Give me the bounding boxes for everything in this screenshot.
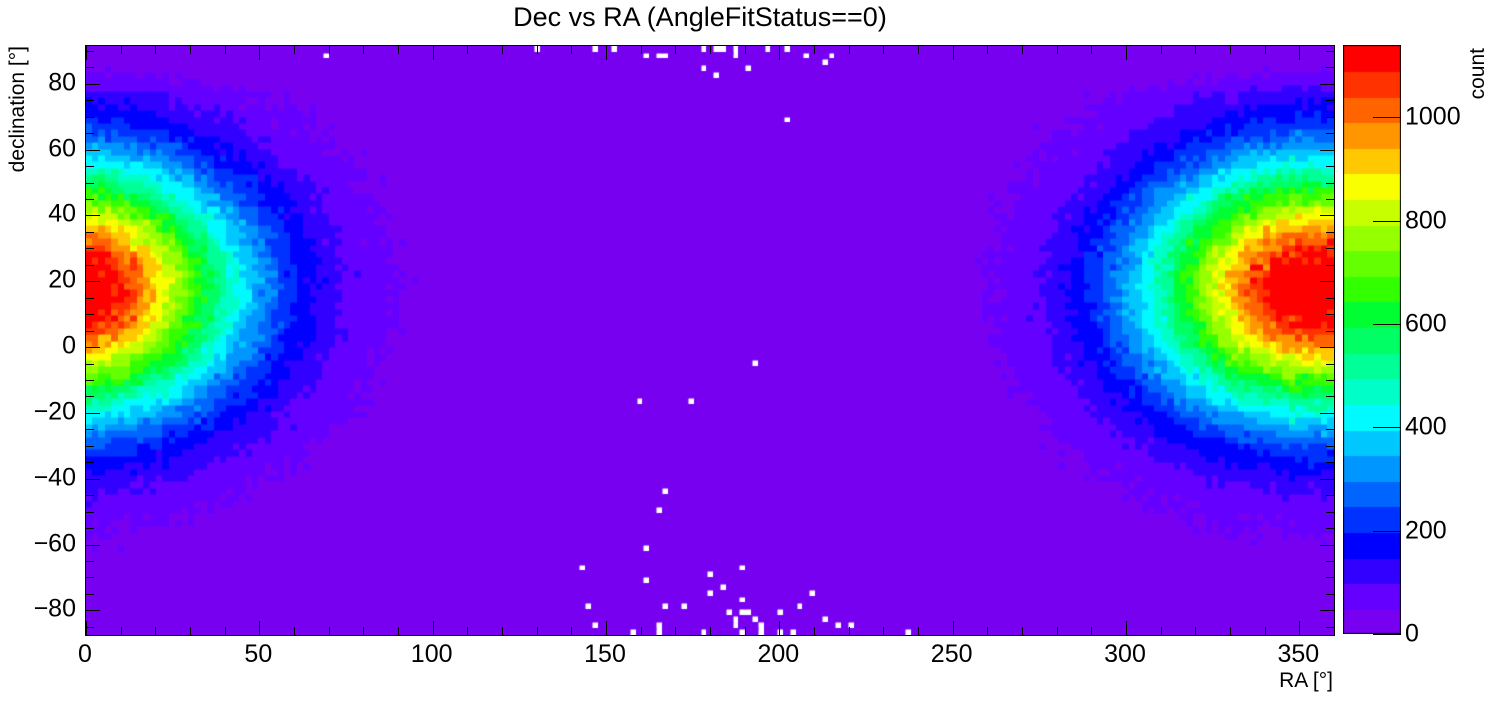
colorbar-tick-mark [1373,221,1401,222]
y-tick-mark [86,331,94,332]
y-tick-mark [86,215,100,216]
y-tick-mark [86,627,94,628]
colorbar-tick-mark [1373,531,1401,532]
y-tick-mark [86,150,100,151]
y-tick-mark [86,265,94,266]
y-tick-mark [1320,215,1334,216]
y-tick-mark [86,528,94,529]
y-tick-mark [86,610,100,611]
y-tick-mark [86,380,94,381]
x-tick-mark [710,627,711,635]
x-tick-mark [1161,46,1162,54]
colorbar-tick-mark [1373,634,1401,635]
x-tick-mark [745,627,746,635]
x-tick-mark [433,46,434,60]
x-tick-label: 0 [78,640,92,669]
y-tick-mark [86,67,94,68]
x-tick-mark [294,46,295,54]
x-tick-mark [953,46,954,60]
colorbar-tick-label: 1000 [1405,103,1461,132]
x-tick-mark [571,46,572,54]
y-tick-mark [1326,199,1334,200]
y-tick-mark [1326,331,1334,332]
y-tick-mark [1326,380,1334,381]
y-tick-mark [86,281,100,282]
colorbar-tick-mark [1373,117,1401,118]
y-tick-mark [1320,150,1334,151]
y-tick-mark [1326,117,1334,118]
y-tick-mark [86,545,100,546]
y-tick-mark [86,479,100,480]
x-tick-mark [1022,46,1023,54]
x-tick-mark [1057,46,1058,54]
y-tick-mark [86,133,94,134]
y-tick-mark [1326,248,1334,249]
x-tick-mark [1334,46,1335,54]
x-tick-mark [814,46,815,54]
y-tick-label: −40 [20,463,76,492]
x-tick-mark [849,46,850,54]
x-tick-mark [1265,627,1266,635]
y-tick-mark [86,100,94,101]
x-tick-mark [259,621,260,635]
y-tick-label: 0 [20,332,76,361]
y-tick-mark [1326,429,1334,430]
x-axis-title: RA [°] [1279,669,1333,693]
x-tick-mark [1195,46,1196,54]
x-tick-mark [1195,627,1196,635]
colorbar-tick-label: 600 [1405,310,1447,339]
y-tick-mark [1326,166,1334,167]
x-tick-mark [953,621,954,635]
colorbar-tick-mark [1373,324,1401,325]
x-tick-mark [1161,627,1162,635]
histogram-canvas [86,46,1334,635]
x-tick-mark [155,627,156,635]
y-tick-label: −60 [20,529,76,558]
colorbar [1343,45,1401,634]
y-tick-mark [1320,281,1334,282]
y-tick-mark [86,347,100,348]
y-tick-label: 20 [20,266,76,295]
x-tick-mark [1299,621,1300,635]
x-tick-label: 150 [584,640,626,669]
x-tick-mark [121,627,122,635]
x-tick-mark [918,46,919,54]
x-tick-mark [190,46,191,54]
y-tick-mark [86,446,94,447]
x-tick-mark [1126,621,1127,635]
y-tick-mark [86,298,94,299]
y-tick-mark [1326,495,1334,496]
x-tick-mark [86,621,87,635]
y-tick-mark [1326,51,1334,52]
x-tick-mark [398,627,399,635]
y-tick-label: −20 [20,397,76,426]
x-tick-mark [987,46,988,54]
x-tick-mark [1126,46,1127,60]
y-tick-mark [86,413,100,414]
y-tick-mark [1320,413,1334,414]
x-tick-mark [1299,46,1300,60]
y-tick-mark [1326,627,1334,628]
y-tick-mark [1326,396,1334,397]
x-tick-mark [86,46,87,60]
y-tick-mark [86,248,94,249]
x-tick-mark [225,627,226,635]
plot-frame [85,45,1335,636]
y-tick-mark [1326,594,1334,595]
x-tick-label: 250 [931,640,973,669]
y-tick-mark [1326,364,1334,365]
y-tick-mark [86,166,94,167]
y-tick-mark [86,429,94,430]
y-tick-mark [86,512,94,513]
x-tick-label: 200 [757,640,799,669]
x-tick-mark [849,627,850,635]
x-tick-mark [987,627,988,635]
x-tick-mark [606,621,607,635]
y-tick-mark [1326,512,1334,513]
y-tick-mark [1326,528,1334,529]
y-tick-mark [1326,232,1334,233]
x-tick-mark [571,627,572,635]
colorbar-gradient [1343,45,1401,634]
x-tick-mark [225,46,226,54]
x-tick-mark [329,46,330,54]
x-tick-mark [675,627,676,635]
y-tick-mark [1320,545,1334,546]
x-tick-mark [329,627,330,635]
x-tick-mark [363,627,364,635]
y-tick-mark [86,364,94,365]
y-tick-mark [86,396,94,397]
y-tick-label: 40 [20,200,76,229]
x-tick-mark [1091,46,1092,54]
x-tick-mark [883,627,884,635]
page-title: Dec vs RA (AngleFitStatus==0) [0,2,1400,33]
y-tick-mark [86,594,94,595]
colorbar-tick-label: 400 [1405,413,1447,442]
x-tick-mark [745,46,746,54]
x-tick-label: 300 [1104,640,1146,669]
chart-root: Dec vs RA (AngleFitStatus==0) 0501001502… [0,0,1496,722]
y-axis-title: declination [°] [6,46,30,172]
y-tick-mark [86,183,94,184]
x-tick-mark [121,46,122,54]
y-tick-mark [1320,610,1334,611]
x-tick-mark [502,46,503,54]
x-tick-mark [641,627,642,635]
x-tick-mark [433,621,434,635]
x-tick-mark [1057,627,1058,635]
x-tick-mark [883,46,884,54]
x-tick-mark [502,627,503,635]
x-tick-mark [1265,46,1266,54]
y-tick-mark [1326,100,1334,101]
y-tick-mark [1326,561,1334,562]
colorbar-tick-label: 200 [1405,517,1447,546]
x-tick-label: 350 [1277,640,1319,669]
x-tick-mark [814,627,815,635]
y-tick-mark [86,51,94,52]
x-tick-mark [155,46,156,54]
x-tick-mark [918,627,919,635]
y-tick-mark [1326,183,1334,184]
y-tick-mark [1326,462,1334,463]
x-tick-label: 50 [244,640,272,669]
y-tick-mark [1326,67,1334,68]
x-tick-mark [537,627,538,635]
y-tick-mark [1320,479,1334,480]
y-tick-mark [1320,84,1334,85]
colorbar-tick-label: 800 [1405,207,1447,236]
x-tick-mark [779,621,780,635]
x-tick-label: 100 [411,640,453,669]
y-tick-mark [86,577,94,578]
x-tick-mark [1230,46,1231,54]
x-tick-mark [779,46,780,60]
x-tick-mark [675,46,676,54]
y-tick-mark [1326,446,1334,447]
y-tick-mark [86,314,94,315]
x-tick-mark [467,46,468,54]
colorbar-tick-mark [1373,427,1401,428]
y-tick-mark [86,232,94,233]
y-tick-label: −80 [20,595,76,624]
x-tick-mark [710,46,711,54]
y-tick-mark [86,462,94,463]
x-tick-mark [467,627,468,635]
x-tick-mark [398,46,399,54]
x-tick-mark [537,46,538,54]
y-tick-mark [86,117,94,118]
y-tick-mark [86,84,100,85]
colorbar-title: count [1466,48,1490,99]
x-tick-mark [1230,627,1231,635]
y-tick-mark [1326,314,1334,315]
x-tick-mark [259,46,260,60]
x-tick-mark [1091,627,1092,635]
x-tick-mark [1334,627,1335,635]
x-tick-mark [641,46,642,54]
x-tick-mark [606,46,607,60]
y-tick-mark [1326,265,1334,266]
y-tick-mark [1326,577,1334,578]
x-tick-mark [294,627,295,635]
x-tick-mark [1022,627,1023,635]
y-tick-mark [1326,133,1334,134]
y-tick-mark [86,495,94,496]
y-tick-mark [86,561,94,562]
x-tick-mark [190,627,191,635]
y-tick-mark [86,199,94,200]
x-tick-mark [363,46,364,54]
y-tick-mark [1320,347,1334,348]
y-tick-mark [1326,298,1334,299]
colorbar-tick-label: 0 [1405,620,1419,649]
